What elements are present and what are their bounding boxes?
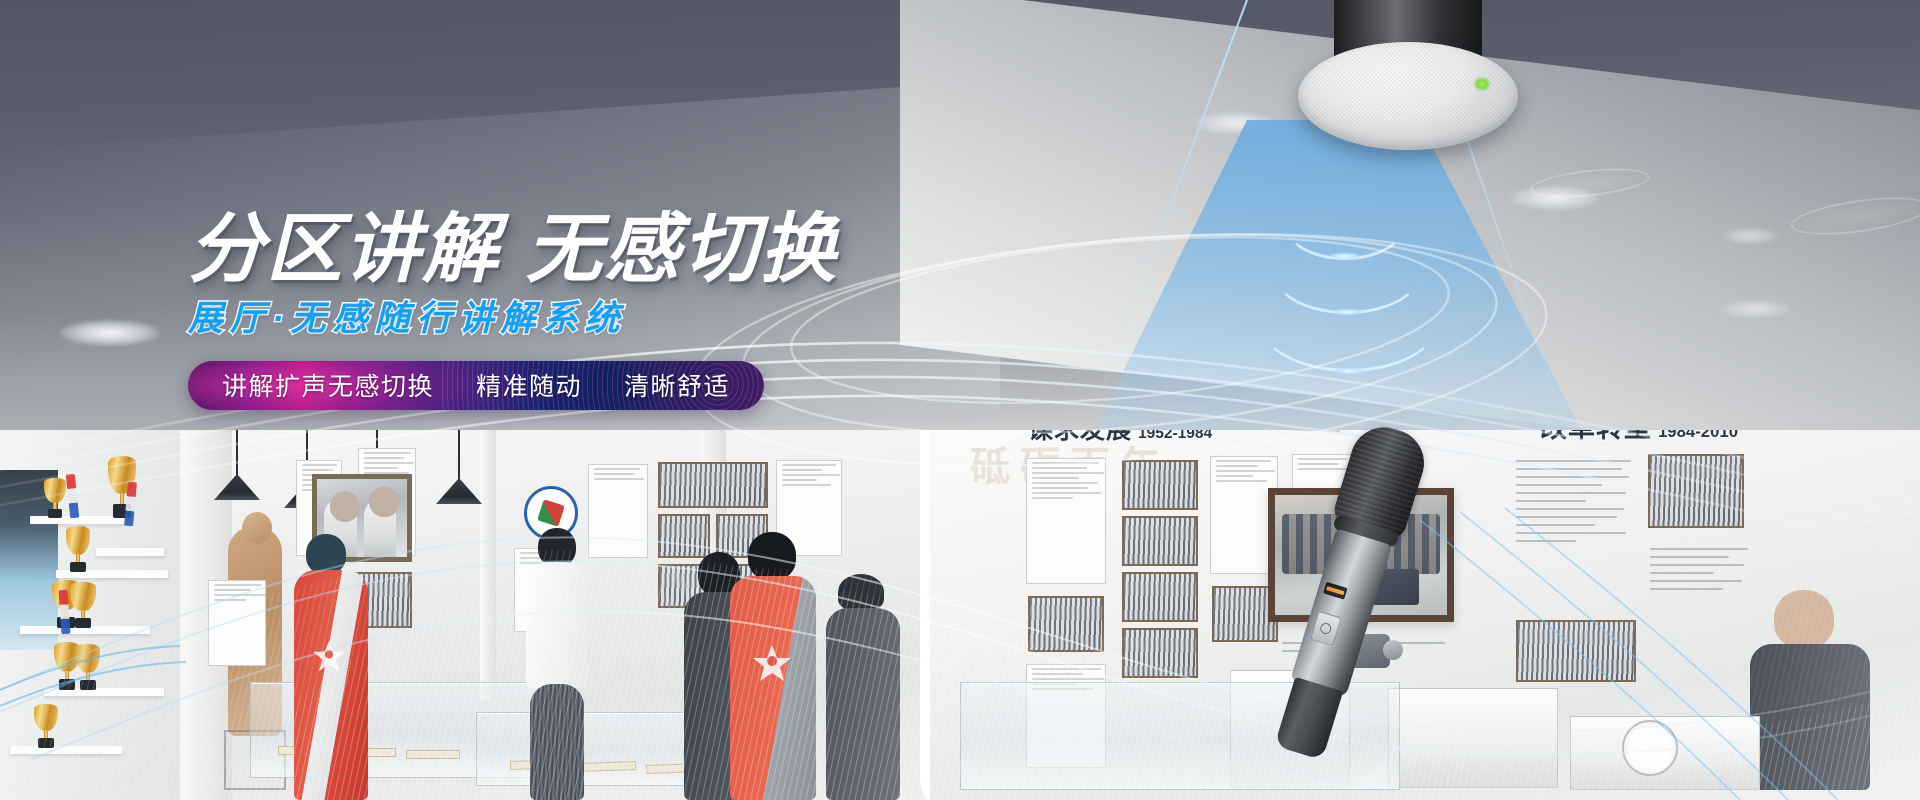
sound-wave-highlight <box>1330 253 1360 259</box>
pendant-lamp-rod <box>458 430 460 482</box>
banner-text-block: 分区讲解无感切换 展厅·无感随行讲解系统 讲解扩声无感切换 精准随动 清晰舒适 <box>188 212 948 410</box>
headline-part-2: 无感切换 <box>526 207 838 292</box>
recessed-light-icon <box>60 320 160 346</box>
historical-photo <box>1122 628 1198 678</box>
section-title-text: 改革转型 <box>1540 430 1652 443</box>
exhibit-section-title-2: 改革转型1984-2010 <box>1540 430 1738 445</box>
hall-pillar <box>480 430 496 700</box>
historical-photo <box>1648 454 1744 528</box>
section-year-range: 1984-2010 <box>1658 430 1738 441</box>
trophy-shelf <box>96 548 164 556</box>
feature-item-2: 精准随动 <box>476 367 582 403</box>
feature-item-1: 讲解扩声无感切换 <box>222 367 434 403</box>
trophy-icon <box>76 644 100 690</box>
feature-pill-bar: 讲解扩声无感切换 精准随动 清晰舒适 <box>188 361 764 410</box>
exhibition-hall-photo: 砥砺百年 谋求发展1952-1984 <box>0 430 1920 800</box>
statue-head <box>242 512 272 544</box>
banner-headline: 分区讲解无感切换 <box>188 212 948 288</box>
historical-photo <box>658 462 768 508</box>
medal-ribbon <box>66 474 80 519</box>
trophy-shelf <box>10 746 122 754</box>
visitor-person <box>826 574 900 800</box>
exhibit-panel <box>1026 458 1106 584</box>
visitor-person <box>294 534 368 800</box>
exhibit-panel <box>208 580 266 666</box>
recessed-light-icon <box>1722 228 1778 244</box>
exhibit-text-block <box>1516 460 1636 548</box>
mic-battery-tail <box>1274 677 1343 760</box>
exhibit-panel <box>588 464 648 558</box>
sound-wave-arc <box>1258 268 1440 372</box>
visitor-person <box>730 532 816 800</box>
promo-banner: 砥砺百年 谋求发展1952-1984 <box>0 0 1920 800</box>
clock-exhibit-icon <box>1622 720 1678 776</box>
recessed-light-icon <box>1720 300 1790 318</box>
exhibit-pedestal <box>1388 688 1558 788</box>
sound-wave-highlight <box>1332 309 1362 315</box>
trophy-icon <box>70 582 96 628</box>
visitor-person <box>1750 590 1870 790</box>
banner-subheadline: 展厅·无感随行讲解系统 <box>188 300 948 339</box>
historical-photo <box>1028 596 1104 652</box>
pendant-lamp-icon <box>436 478 482 504</box>
sound-wave-highlight <box>1334 368 1364 374</box>
speaker-grille <box>1298 42 1518 150</box>
headline-part-1: 分区讲解 <box>188 207 500 292</box>
pendant-lamp-rod <box>236 430 238 478</box>
vest-star-logo-icon <box>312 640 346 672</box>
mic-body <box>1290 528 1392 698</box>
section-year-range: 1952-1984 <box>1138 430 1212 442</box>
historical-photo <box>1122 572 1198 622</box>
historical-photo <box>1122 460 1198 510</box>
trophy-icon <box>66 526 90 572</box>
trophy-icon <box>44 478 66 518</box>
historical-photo <box>1122 516 1198 566</box>
feature-list: 讲解扩声无感切换 精准随动 清晰舒适 <box>222 367 730 403</box>
exhibit-document <box>406 750 460 759</box>
center-exhibition-hall <box>180 430 940 800</box>
exhibit-section-title-1: 谋求发展1952-1984 <box>1028 430 1212 446</box>
section-title-text: 谋求发展 <box>1028 430 1132 444</box>
feature-item-3: 清晰舒适 <box>624 367 730 403</box>
ceiling-speaker-icon <box>1298 0 1518 170</box>
speaker-status-led <box>1474 78 1490 90</box>
exhibit-text-block <box>1650 548 1754 596</box>
vest-star-logo-icon <box>752 644 792 682</box>
visitor-person <box>526 528 588 800</box>
historical-photo <box>1516 620 1636 682</box>
trophy-icon <box>34 704 58 748</box>
